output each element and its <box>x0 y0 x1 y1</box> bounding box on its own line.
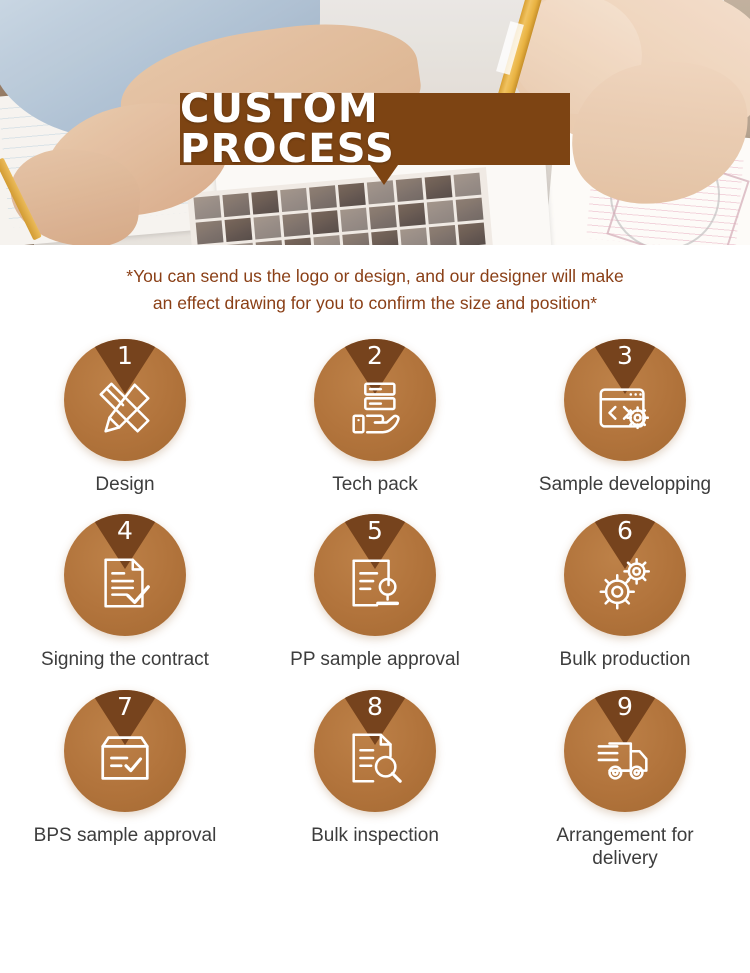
subtitle-line-1: *You can send us the logo or design, and… <box>55 263 695 290</box>
gears-icon <box>594 552 656 614</box>
step-number: 4 <box>64 518 186 543</box>
step-label: Bulk inspection <box>311 824 439 847</box>
banner-overlay: CUSTOM PROCESS <box>0 0 750 245</box>
banner-pointer-tail <box>370 165 398 185</box>
process-step-3[interactable]: 3 Sample developp <box>500 339 750 496</box>
subtitle-line-2: an effect drawing for you to confirm the… <box>55 290 695 317</box>
page-title: CUSTOM PROCESS <box>180 89 570 169</box>
process-steps-grid: 1 Design 2 <box>0 317 750 870</box>
step-label-line-1: Arrangement for delivery <box>556 825 693 869</box>
step-number: 1 <box>64 343 186 368</box>
step-badge: 9 <box>564 690 686 812</box>
step-label: PP sample approval <box>290 648 460 671</box>
process-step-6[interactable]: 6 Bulk production <box>500 514 750 671</box>
step-number: 2 <box>314 343 436 368</box>
step-number: 3 <box>564 343 686 368</box>
pencil-ruler-icon <box>94 377 156 439</box>
step-label: Design <box>95 473 154 496</box>
step-label: Tech pack <box>332 473 418 496</box>
step-badge: 7 <box>64 690 186 812</box>
process-step-4[interactable]: 4 Signing the contract <box>0 514 250 671</box>
step-label: BPS sample approval <box>34 824 217 847</box>
step-number: 9 <box>564 694 686 719</box>
box-check-icon <box>94 727 156 789</box>
document-check-icon <box>94 552 156 614</box>
hand-holding-documents-icon <box>344 377 406 439</box>
process-step-7[interactable]: 7 BPS sample approval <box>0 690 250 870</box>
step-label: Arrangement for delivery <box>545 824 705 870</box>
step-label: Sample developping <box>539 473 711 496</box>
step-badge: 3 <box>564 339 686 461</box>
process-step-5[interactable]: 5 PP sample approval <box>250 514 500 671</box>
step-badge: 2 <box>314 339 436 461</box>
step-badge: 4 <box>64 514 186 636</box>
step-label: Bulk production <box>560 648 691 671</box>
process-step-1[interactable]: 1 Design <box>0 339 250 496</box>
step-number: 5 <box>314 518 436 543</box>
document-magnifier-icon <box>344 727 406 789</box>
code-window-gear-icon <box>594 377 656 439</box>
custom-process-page: CUSTOM PROCESS *You can send us the logo… <box>0 0 750 973</box>
banner-box: CUSTOM PROCESS <box>180 93 570 165</box>
process-step-9[interactable]: 9 Arrangement for delivery <box>500 690 750 870</box>
document-stamp-icon <box>344 552 406 614</box>
process-step-2[interactable]: 2 Tech pack <box>250 339 500 496</box>
hero-banner-section: CUSTOM PROCESS <box>0 0 750 245</box>
step-badge: 8 <box>314 690 436 812</box>
process-step-8[interactable]: 8 Bulk inspection <box>250 690 500 870</box>
step-badge: 1 <box>64 339 186 461</box>
step-label: Signing the contract <box>41 648 209 671</box>
delivery-truck-icon <box>594 727 656 789</box>
subtitle-note: *You can send us the logo or design, and… <box>55 245 695 317</box>
step-badge: 6 <box>564 514 686 636</box>
step-number: 8 <box>314 694 436 719</box>
step-badge: 5 <box>314 514 436 636</box>
step-number: 7 <box>64 694 186 719</box>
step-number: 6 <box>564 518 686 543</box>
